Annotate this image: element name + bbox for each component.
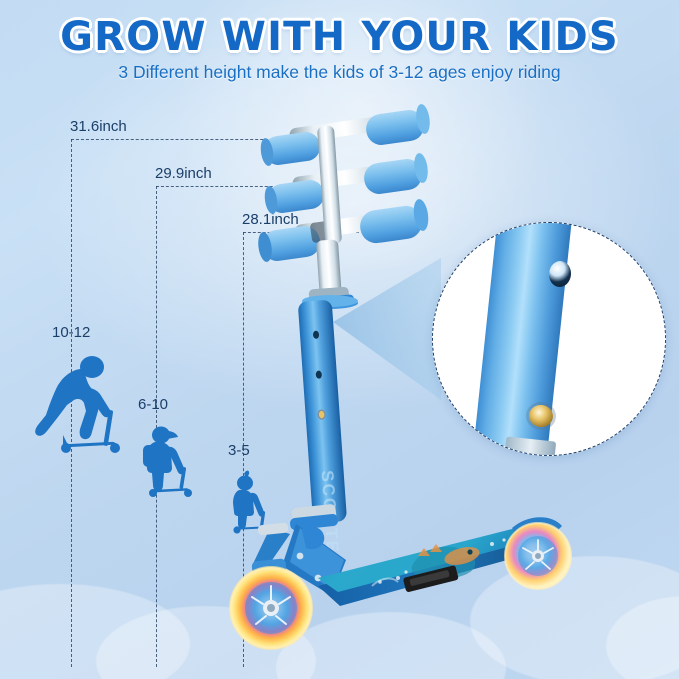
stem-tube-detail	[472, 222, 573, 456]
magnified-detail-circle	[432, 222, 666, 456]
product-infographic-poster: GROW WITH YOUR KIDS 3 Different height m…	[0, 0, 679, 679]
